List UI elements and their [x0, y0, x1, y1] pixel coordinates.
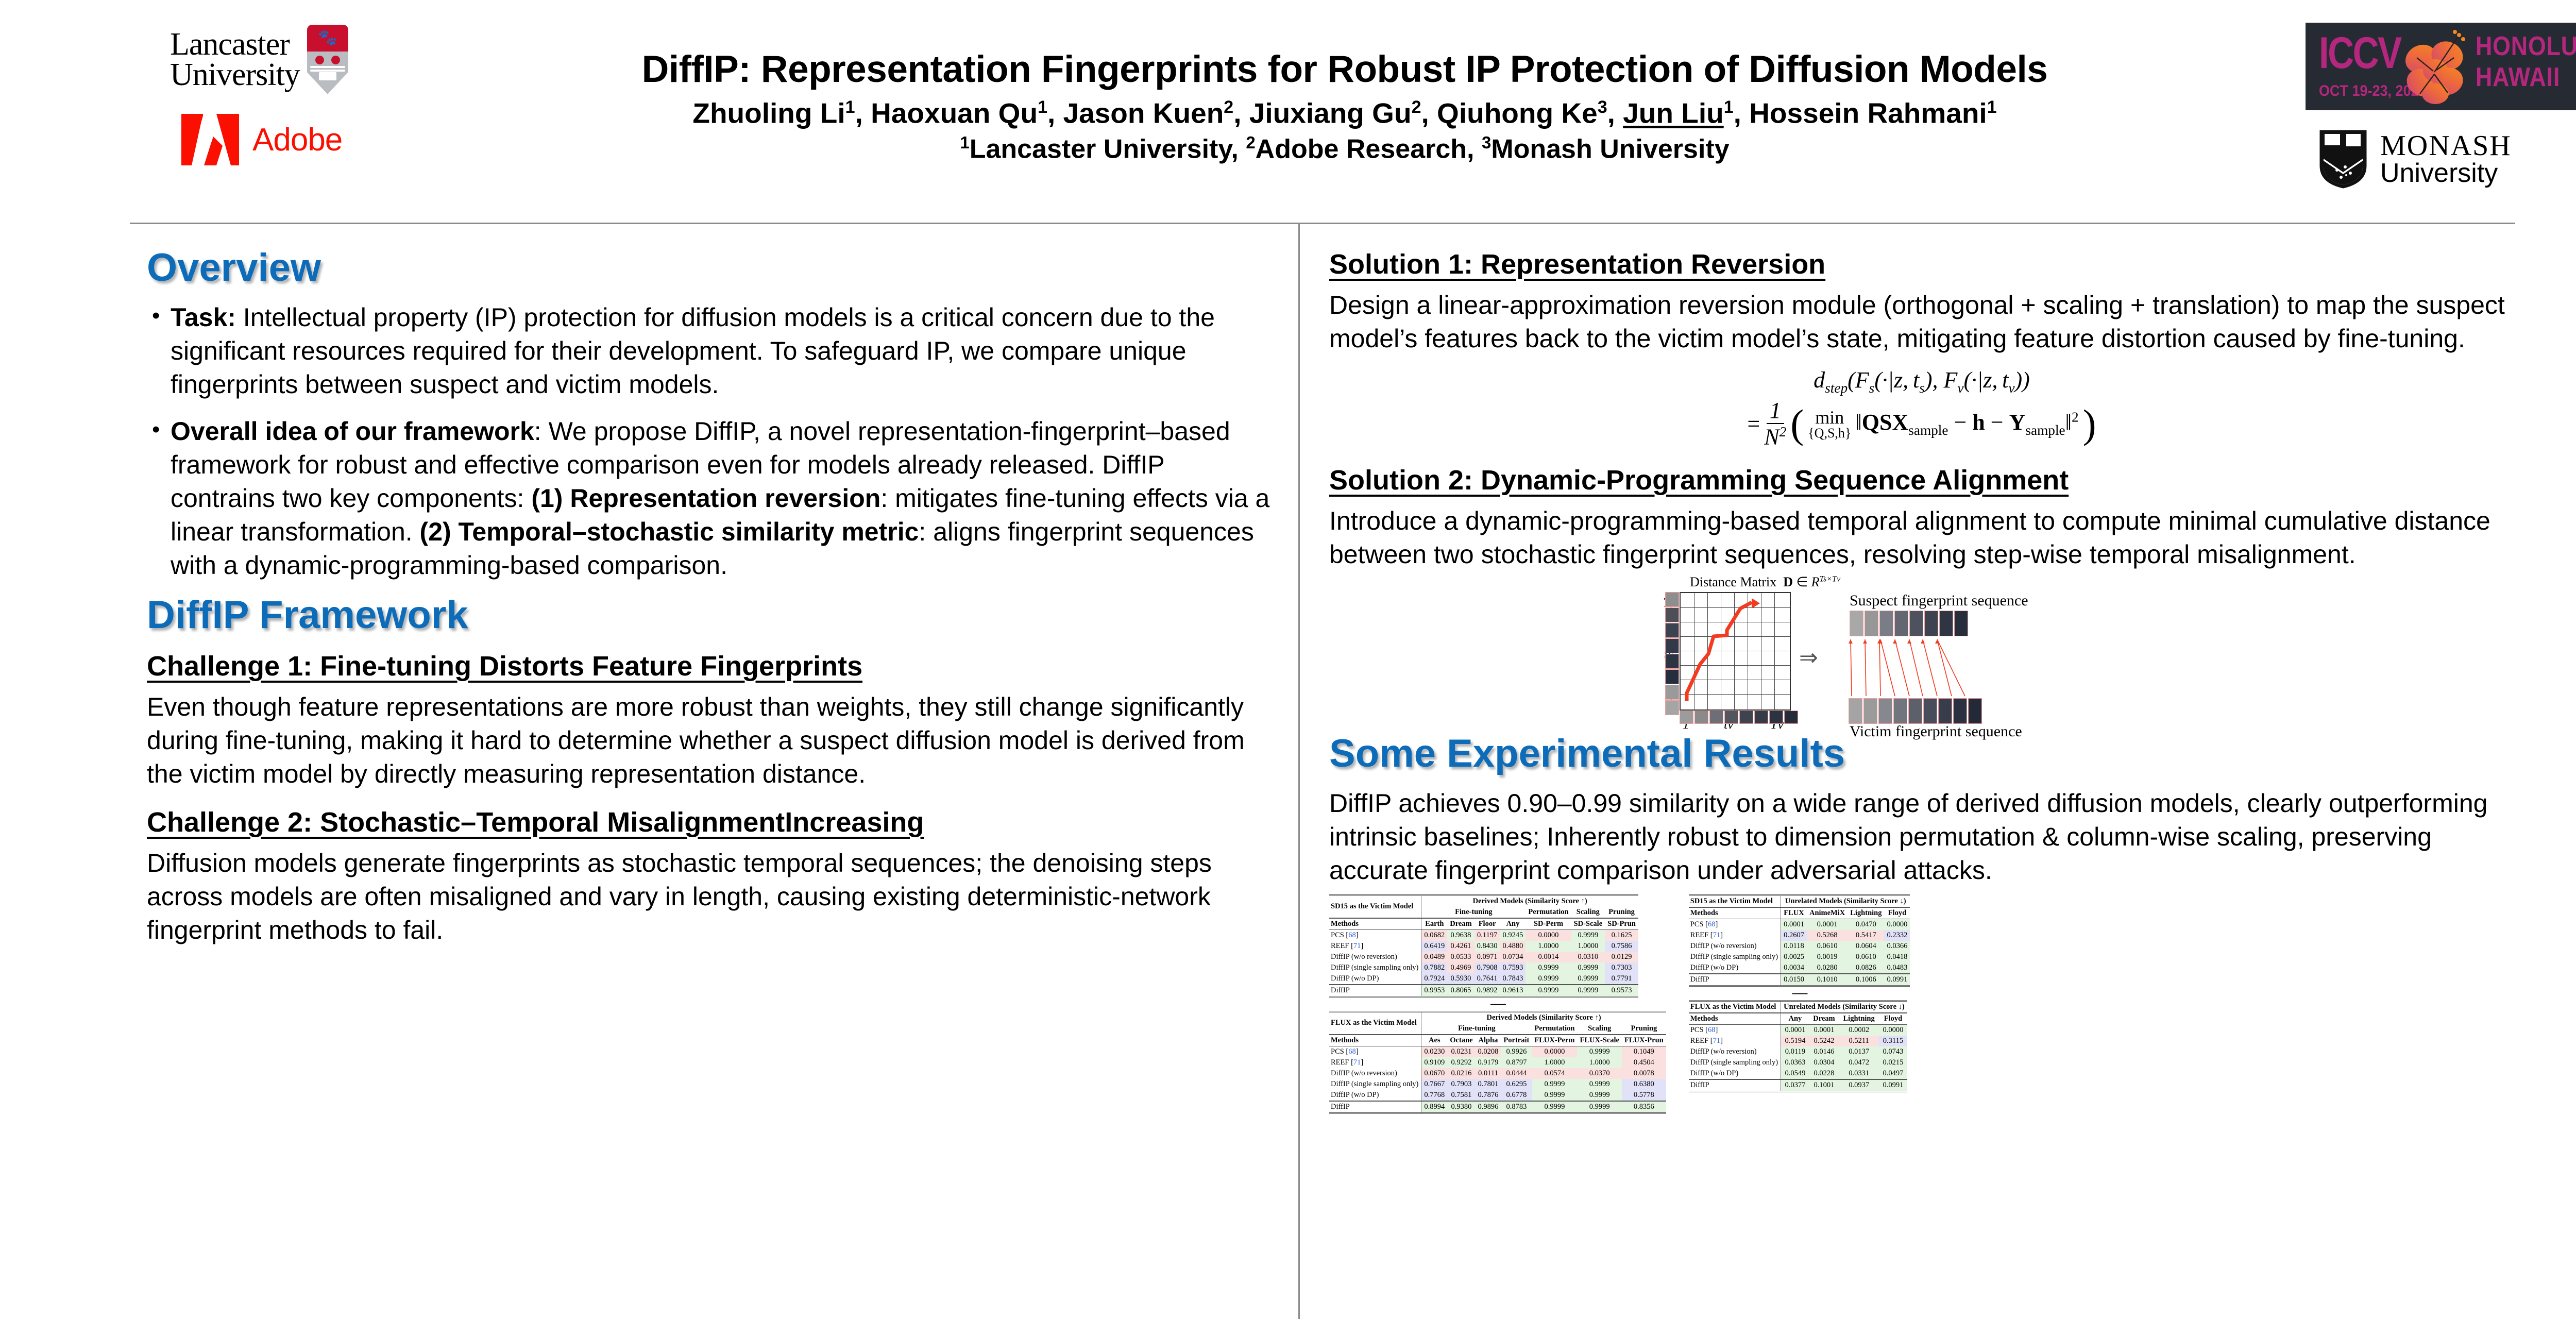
- table-cell: 0.5242: [1809, 1036, 1839, 1046]
- row-method-label: PCS [68]: [1689, 1024, 1781, 1036]
- table-cell: 0.9999: [1571, 985, 1605, 997]
- row-method-label: DiffIP (w/o DP): [1689, 962, 1781, 974]
- overview-bullet-list: Task: Intellectual property (IP) protect…: [147, 301, 1273, 582]
- table-corner-label: SD15 as the Victim Model: [1329, 895, 1421, 918]
- monash-line-2: University: [2380, 160, 2512, 187]
- right-column: Solution 1: Representation Reversion Des…: [1329, 248, 2514, 1115]
- solution-2-heading: Solution 2: Dynamic-Programming Sequence…: [1329, 464, 2514, 496]
- bullet-text: Intellectual property (IP) protection fo…: [171, 303, 1215, 399]
- table-cell: 0.1010: [1807, 974, 1848, 986]
- table-cell: 0.0118: [1781, 941, 1807, 952]
- table-cell: 0.8994: [1421, 1101, 1447, 1113]
- table-row: DiffIP (w/o reversion)0.01180.06100.0604…: [1689, 941, 1910, 952]
- adobe-a-icon: [181, 114, 239, 165]
- table-cell: 0.7876: [1476, 1090, 1501, 1101]
- row-method-label: PCS [68]: [1689, 919, 1781, 930]
- table-cell: 0.2607: [1781, 930, 1807, 941]
- table-cell: 0.9999: [1571, 929, 1605, 941]
- table-row: REEF [71]0.91090.92920.91790.87971.00001…: [1329, 1057, 1666, 1068]
- table-derived-flux: FLUX as the Victim Model Derived Models …: [1329, 1011, 1666, 1114]
- column-header: Lightning: [1839, 1013, 1879, 1025]
- column-header: FLUX-Scale: [1577, 1035, 1622, 1046]
- column-header: Alpha: [1476, 1035, 1501, 1046]
- column-header: Portrait: [1501, 1035, 1532, 1046]
- table-row: DiffIP0.99530.80650.98920.96130.99990.99…: [1329, 985, 1638, 997]
- bullet-lead: Overall idea of our framework: [171, 417, 534, 446]
- table-cell: 0.6419: [1421, 941, 1447, 952]
- table-row: DiffIP (w/o DP)0.77680.75810.78760.67780…: [1329, 1090, 1666, 1101]
- challenge-1-heading: Challenge 1: Fine-tuning Distorts Featur…: [147, 650, 1273, 682]
- table-row: PCS [68]0.00010.00010.00020.0000: [1689, 1024, 1907, 1036]
- table-cell: 0.1006: [1848, 974, 1884, 986]
- table-row: DiffIP (single sampling only)0.00250.001…: [1689, 952, 1910, 962]
- table-cell: 0.0444: [1501, 1068, 1532, 1079]
- table-cell: 0.1625: [1605, 929, 1638, 941]
- group-permutation: Permutation: [1526, 907, 1571, 918]
- column-header-methods: Methods: [1329, 1035, 1421, 1046]
- table-cell: 0.2332: [1884, 930, 1910, 941]
- iccv-city: HONOLULU: [2476, 31, 2576, 62]
- table-cell: 0.0001: [1781, 919, 1807, 930]
- table-row: DiffIP (w/o reversion)0.06700.02160.0111…: [1329, 1068, 1666, 1079]
- table-row: SD15 as the Victim Model Unrelated Model…: [1689, 895, 1910, 907]
- header-divider: [130, 223, 2515, 224]
- row-method-label: DiffIP (w/o reversion): [1329, 952, 1421, 962]
- table-cell: 0.7768: [1421, 1090, 1447, 1101]
- column-header: Lightning: [1848, 907, 1884, 919]
- table-separator: ——: [1329, 999, 1666, 1011]
- implies-arrow-icon: ⇒: [1799, 645, 1818, 671]
- table-cell: 0.8430: [1475, 941, 1500, 952]
- table-cell: 0.7667: [1421, 1079, 1447, 1090]
- table-cell: 0.0216: [1447, 1068, 1475, 1079]
- table-row: SD15 as the Victim Model Derived Models …: [1329, 895, 1638, 907]
- table-row: DiffIP (w/o reversion)0.01190.01460.0137…: [1689, 1046, 1907, 1057]
- table-cell: 0.4969: [1447, 962, 1474, 973]
- table-cell: 0.5930: [1447, 973, 1474, 985]
- table-cell: 0.7586: [1605, 941, 1638, 952]
- column-header: SD-Perm: [1526, 918, 1571, 930]
- table-cell: 0.0231: [1447, 1046, 1475, 1057]
- table-cell: 0.0670: [1421, 1068, 1447, 1079]
- table-cell: 0.0000: [1884, 919, 1910, 930]
- table-cell: 0.9179: [1476, 1057, 1501, 1068]
- row-method-label: DiffIP (w/o reversion): [1689, 941, 1781, 952]
- row-method-label: DiffIP (single sampling only): [1689, 952, 1781, 962]
- table-cell: 0.9999: [1532, 1101, 1577, 1113]
- table-cell: 0.9999: [1532, 1079, 1577, 1090]
- table-cell: 0.0991: [1879, 1079, 1907, 1092]
- table-row: REEF [71]0.64190.42610.84300.48801.00001…: [1329, 941, 1638, 952]
- formula-line-2: = 1N2 ( min{Q,S,h} ‖QSXsample − h − Ysam…: [1329, 399, 2514, 449]
- table-cell: 0.0280: [1807, 962, 1848, 974]
- table-row: PCS [68]0.00010.00010.04700.0000: [1689, 919, 1910, 930]
- table-row: FLUX as the Victim Model Unrelated Model…: [1689, 1001, 1907, 1013]
- monash-university-logo: MONASH University: [2318, 129, 2576, 190]
- table-cell: 0.0000: [1532, 1046, 1577, 1057]
- table-unrelated-sd15: SD15 as the Victim Model Unrelated Model…: [1689, 894, 1910, 987]
- table-row: FLUX as the Victim Model Derived Models …: [1329, 1011, 1666, 1023]
- table-header-row: Methods FLUX AnimeMiX Lightning Floyd: [1689, 907, 1910, 919]
- table-separator: ——: [1689, 988, 1910, 1000]
- table-cell: 0.9953: [1421, 985, 1447, 997]
- dp-warping-path: [1680, 592, 1789, 708]
- row-method-label: DiffIP (w/o reversion): [1689, 1046, 1781, 1057]
- table-cell: 0.8797: [1501, 1057, 1532, 1068]
- suspect-fingerprint-strip: [1850, 611, 1968, 636]
- solution-1-text: Design a linear-approximation reversion …: [1329, 289, 2514, 356]
- table-cell: 0.7882: [1421, 962, 1447, 973]
- table-cell: 0.9999: [1577, 1090, 1622, 1101]
- group-fine-tuning: Fine-tuning: [1421, 907, 1526, 918]
- row-method-label: DiffIP (w/o DP): [1329, 973, 1421, 985]
- unrelated-tables-column: SD15 as the Victim Model Unrelated Model…: [1689, 894, 1910, 1093]
- table-cell: 1.0000: [1571, 941, 1605, 952]
- column-header: AnimeMiX: [1807, 907, 1848, 919]
- list-item: Task: Intellectual property (IP) protect…: [171, 301, 1273, 401]
- table-cell: 0.5417: [1848, 930, 1884, 941]
- table-cell: 0.7581: [1447, 1090, 1475, 1101]
- challenge-2-heading: Challenge 2: Stochastic–Temporal Misalig…: [147, 806, 1273, 838]
- row-method-label: DiffIP (single sampling only): [1329, 962, 1421, 973]
- table-row: DiffIP (single sampling only)0.78820.496…: [1329, 962, 1638, 973]
- table-cell: 0.5268: [1807, 930, 1848, 941]
- table-cell: 0.0230: [1421, 1046, 1447, 1057]
- table-cell: 0.0472: [1839, 1057, 1879, 1068]
- row-method-label: REEF [71]: [1689, 930, 1781, 941]
- iccv-state: HAWAII: [2476, 62, 2576, 93]
- table-cell: 0.0119: [1781, 1046, 1809, 1057]
- table-cell: 0.9573: [1605, 985, 1638, 997]
- table-cell: 0.0574: [1532, 1068, 1577, 1079]
- table-corner-label: FLUX as the Victim Model: [1329, 1011, 1421, 1035]
- lancaster-shield-icon: 🐾: [307, 25, 348, 94]
- table-bottom-rule: [1329, 996, 1638, 997]
- table-bottom-rule: [1689, 1091, 1907, 1092]
- row-method-label: DiffIP: [1689, 1079, 1781, 1092]
- table-cell: 0.7843: [1500, 973, 1526, 985]
- table-cell: 0.0002: [1839, 1024, 1879, 1036]
- table-cell: 0.9999: [1526, 985, 1571, 997]
- solution-1-heading: Solution 1: Representation Reversion: [1329, 248, 2514, 280]
- table-cell: 0.0146: [1809, 1046, 1839, 1057]
- table-cell: 0.9999: [1577, 1046, 1622, 1057]
- challenge-2-text: Diffusion models generate fingerprints a…: [147, 847, 1273, 947]
- lancaster-university-logo: Lancaster University 🐾: [170, 25, 489, 94]
- right-logos: ICCV OCT 19-23, 2025: [2231, 23, 2576, 218]
- table-cell: 0.0111: [1476, 1068, 1501, 1079]
- table-cell: 0.9926: [1501, 1046, 1532, 1057]
- affiliation-list: 1Lancaster University, 2Adobe Research, …: [464, 133, 2226, 164]
- table-cell: 0.9999: [1532, 1090, 1577, 1101]
- row-method-label: DiffIP (single sampling only): [1329, 1079, 1421, 1090]
- table-cell: 0.0228: [1809, 1068, 1839, 1079]
- table-row: DiffIP (w/o reversion)0.04890.05330.0971…: [1329, 952, 1638, 962]
- column-header: Any: [1781, 1013, 1809, 1025]
- reversion-formula: dstep(Fs(·|z, ts), Fv(·|z, tv)) = 1N2 ( …: [1329, 367, 2514, 448]
- formula-line-1: dstep(Fs(·|z, ts), Fv(·|z, tv)): [1329, 367, 2514, 396]
- table-cell: 0.0533: [1447, 952, 1474, 962]
- row-method-label: DiffIP (w/o DP): [1329, 1090, 1421, 1101]
- table-group-title: Derived Models (Similarity Score ↑): [1421, 895, 1638, 907]
- table-cell: 0.0610: [1807, 941, 1848, 952]
- table-cell: 0.0019: [1807, 952, 1848, 962]
- table-cell: 0.0366: [1884, 941, 1910, 952]
- table-row: REEF [71]0.26070.52680.54170.2332: [1689, 930, 1910, 941]
- table-cell: 0.0129: [1605, 952, 1638, 962]
- table-cell: 0.0682: [1421, 929, 1447, 941]
- adobe-logo: Adobe: [181, 114, 489, 165]
- table-cell: 0.0377: [1781, 1079, 1809, 1092]
- table-cell: 0.0363: [1781, 1057, 1809, 1068]
- table-header-row: Methods Aes Octane Alpha Portrait FLUX-P…: [1329, 1035, 1666, 1046]
- table-cell: 0.7903: [1447, 1079, 1475, 1090]
- table-cell: 0.0734: [1500, 952, 1526, 962]
- table-cell: 0.1049: [1622, 1046, 1666, 1057]
- table-cell: 0.4504: [1622, 1057, 1666, 1068]
- table-row: DiffIP0.89940.93800.98960.87830.99990.99…: [1329, 1101, 1666, 1113]
- row-method-label: DiffIP: [1689, 974, 1781, 986]
- table-cell: 0.0000: [1526, 929, 1571, 941]
- column-header: Octane: [1447, 1035, 1475, 1046]
- table-cell: 0.7908: [1475, 962, 1500, 973]
- iccv-letters: ICCV: [2319, 31, 2401, 75]
- group-scaling: Scaling: [1571, 907, 1605, 918]
- hibiscus-flower-icon: [2398, 27, 2476, 107]
- alignment-links: [1844, 636, 2020, 703]
- framework-heading: DiffIP Framework: [147, 596, 1273, 635]
- row-method-label: REEF [71]: [1329, 1057, 1421, 1068]
- column-header-methods: Methods: [1689, 907, 1781, 919]
- table-row: DiffIP (single sampling only)0.03630.030…: [1689, 1057, 1907, 1068]
- table-cell: 0.0304: [1809, 1057, 1839, 1068]
- table-cell: 0.0418: [1884, 952, 1910, 962]
- table-cell: 0.9380: [1447, 1101, 1475, 1113]
- table-cell: 0.0604: [1848, 941, 1884, 952]
- left-column: Overview Task: Intellectual property (IP…: [147, 248, 1273, 958]
- table-cell: 0.7641: [1475, 973, 1500, 985]
- table-row: DiffIP (w/o DP)0.79240.59300.76410.78430…: [1329, 973, 1638, 985]
- table-row: DiffIP (single sampling only)0.76670.790…: [1329, 1079, 1666, 1090]
- column-header: FLUX-Prun: [1622, 1035, 1666, 1046]
- table-cell: 0.0150: [1781, 974, 1807, 986]
- bullet-lead: Task:: [171, 303, 236, 332]
- table-cell: 0.7801: [1476, 1079, 1501, 1090]
- table-cell: 1.0000: [1577, 1057, 1622, 1068]
- table-cell: 0.0208: [1476, 1046, 1501, 1057]
- table-cell: 0.5778: [1622, 1090, 1666, 1101]
- column-header: Any: [1500, 918, 1526, 930]
- matrix-row-thumbnails: [1665, 592, 1679, 715]
- lancaster-line-2: University: [170, 60, 300, 90]
- left-logos: Lancaster University 🐾: [170, 25, 489, 210]
- group-permutation: Permutation: [1532, 1023, 1577, 1035]
- suspect-sequence-label: Suspect fingerprint sequence: [1850, 592, 2028, 610]
- table-cell: 0.9892: [1475, 985, 1500, 997]
- table-row: PCS [68]0.02300.02310.02080.99260.00000.…: [1329, 1046, 1666, 1057]
- column-header-methods: Methods: [1689, 1013, 1781, 1025]
- table-bottom-rule: [1329, 1113, 1666, 1114]
- table-cell: 0.8356: [1622, 1101, 1666, 1113]
- author-list: Zhuoling Li1, Haoxuan Qu1, Jason Kuen2, …: [464, 97, 2226, 129]
- poster-title: DiffIP: Representation Fingerprints for …: [464, 49, 2226, 90]
- iccv-conference-logo: ICCV OCT 19-23, 2025: [2306, 23, 2576, 110]
- title-block: DiffIP: Representation Fingerprints for …: [464, 49, 2226, 164]
- table-cell: 0.0001: [1807, 919, 1848, 930]
- table-cell: 0.0001: [1809, 1024, 1839, 1036]
- table-cell: 0.9292: [1447, 1057, 1475, 1068]
- table-cell: 0.0743: [1879, 1046, 1907, 1057]
- column-header: Earth: [1421, 918, 1447, 930]
- column-header: FLUX: [1781, 907, 1807, 919]
- table-cell: 0.0310: [1571, 952, 1605, 962]
- table-cell: 0.9896: [1476, 1101, 1501, 1113]
- table-cell: 0.7303: [1605, 962, 1638, 973]
- table-cell: 0.0001: [1781, 1024, 1809, 1036]
- row-method-label: REEF [71]: [1329, 941, 1421, 952]
- distance-matrix-caption: Distance Matrix D ∈ RTs×Tv: [1690, 574, 1840, 590]
- table-cell: 0.9999: [1526, 962, 1571, 973]
- row-method-label: DiffIP: [1329, 1101, 1421, 1113]
- table-cell: 0.0826: [1848, 962, 1884, 974]
- table-derived-sd15: SD15 as the Victim Model Derived Models …: [1329, 894, 1638, 997]
- table-cell: 0.6295: [1501, 1079, 1532, 1090]
- column-header: Aes: [1421, 1035, 1447, 1046]
- list-item: Overall idea of our framework: We propos…: [171, 415, 1273, 582]
- column-header: SD-Scale: [1571, 918, 1605, 930]
- column-header-methods: Methods: [1329, 918, 1421, 930]
- table-cell: 0.4880: [1500, 941, 1526, 952]
- results-tables: SD15 as the Victim Model Derived Models …: [1329, 894, 2524, 1115]
- table-cell: 0.0000: [1879, 1024, 1907, 1036]
- table-cell: 0.0937: [1839, 1079, 1879, 1092]
- overview-heading: Overview: [147, 248, 1273, 288]
- table-row: DiffIP (w/o DP)0.05490.02280.03310.0497: [1689, 1068, 1907, 1079]
- adobe-wordmark: Adobe: [252, 122, 342, 158]
- table-cell: 0.0489: [1421, 952, 1447, 962]
- table-cell: 0.9999: [1571, 973, 1605, 985]
- column-header: Floor: [1475, 918, 1500, 930]
- table-cell: 0.9999: [1571, 962, 1605, 973]
- table-cell: 1.0000: [1532, 1057, 1577, 1068]
- table-cell: 0.4261: [1447, 941, 1474, 952]
- table-cell: 0.9638: [1447, 929, 1474, 941]
- dp-alignment-diagram: Distance Matrix D ∈ RTs×Tv Ts ts 1 1 tv …: [1329, 574, 2514, 729]
- table-cell: 0.0370: [1577, 1068, 1622, 1079]
- table-cell: 0.9999: [1577, 1101, 1622, 1113]
- table-cell: 0.0549: [1781, 1068, 1809, 1079]
- row-method-label: PCS [68]: [1329, 929, 1421, 941]
- table-row: DiffIP0.01500.10100.10060.0991: [1689, 974, 1910, 986]
- table-cell: 0.8783: [1501, 1101, 1532, 1113]
- table-cell: 0.0025: [1781, 952, 1807, 962]
- table-cell: 0.0610: [1848, 952, 1884, 962]
- group-scaling: Scaling: [1577, 1023, 1622, 1035]
- table-cell: 0.9999: [1526, 973, 1571, 985]
- monash-shield-icon: [2318, 129, 2368, 190]
- victim-sequence-label: Victim fingerprint sequence: [1850, 723, 2022, 740]
- table-group-title: Derived Models (Similarity Score ↑): [1421, 1011, 1666, 1023]
- table-row: DiffIP0.03770.10010.09370.0991: [1689, 1079, 1907, 1092]
- table-cell: 0.0470: [1848, 919, 1884, 930]
- table-header-row: Methods Any Dream Lightning Floyd: [1689, 1013, 1907, 1025]
- table-cell: 0.7791: [1605, 973, 1638, 985]
- table-corner-label: SD15 as the Victim Model: [1689, 895, 1781, 907]
- table-cell: 0.9999: [1577, 1079, 1622, 1090]
- table-cell: 0.5211: [1839, 1036, 1879, 1046]
- column-header: Dream: [1809, 1013, 1839, 1025]
- table-cell: 0.9613: [1500, 985, 1526, 997]
- table-cell: 0.0331: [1839, 1068, 1879, 1079]
- table-cell: 0.0483: [1884, 962, 1910, 974]
- row-method-label: DiffIP (w/o DP): [1689, 1068, 1781, 1079]
- table-row: REEF [71]0.51940.52420.52110.3115: [1689, 1036, 1907, 1046]
- group-pruning: Pruning: [1605, 907, 1638, 918]
- table-cell: 0.1001: [1809, 1079, 1839, 1092]
- iccv-location: HONOLULU HAWAII: [2476, 31, 2576, 93]
- table-cell: 0.8065: [1447, 985, 1474, 997]
- column-header: SD-Prun: [1605, 918, 1638, 930]
- table-cell: 0.0137: [1839, 1046, 1879, 1057]
- table-cell: 0.0215: [1879, 1057, 1907, 1068]
- table-corner-label: FLUX as the Victim Model: [1689, 1001, 1781, 1013]
- row-method-label: DiffIP (single sampling only): [1689, 1057, 1781, 1068]
- table-row: PCS [68]0.06820.96380.11970.92450.00000.…: [1329, 929, 1638, 941]
- monash-wordmark: MONASH University: [2380, 132, 2512, 187]
- table-cell: 0.0971: [1475, 952, 1500, 962]
- group-fine-tuning: Fine-tuning: [1421, 1023, 1532, 1035]
- table-cell: 0.0078: [1622, 1068, 1666, 1079]
- table-cell: 0.6380: [1622, 1079, 1666, 1090]
- row-method-label: DiffIP: [1329, 985, 1421, 997]
- row-method-label: REEF [71]: [1689, 1036, 1781, 1046]
- table-header-row: Methods Earth Dream Floor Any SD-Perm SD…: [1329, 918, 1638, 930]
- table-cell: 0.6778: [1501, 1090, 1532, 1101]
- challenge-1-text: Even though feature representations are …: [147, 690, 1273, 791]
- column-header: Floyd: [1879, 1013, 1907, 1025]
- lancaster-wordmark: Lancaster University: [170, 29, 300, 90]
- monash-line-1: MONASH: [2380, 132, 2512, 160]
- column-header: Floyd: [1884, 907, 1910, 919]
- group-pruning: Pruning: [1622, 1023, 1666, 1035]
- table-bottom-rule: [1689, 986, 1910, 987]
- table-cell: 0.7924: [1421, 973, 1447, 985]
- victim-fingerprint-strip: [1849, 698, 1982, 724]
- column-header: FLUX-Perm: [1532, 1035, 1577, 1046]
- matrix-column-thumbnails: [1680, 711, 1798, 724]
- table-cell: 1.0000: [1526, 941, 1571, 952]
- table-unrelated-flux: FLUX as the Victim Model Unrelated Model…: [1689, 1000, 1907, 1092]
- poster-header: Lancaster University 🐾: [0, 0, 2576, 223]
- table-group-title: Unrelated Models (Similarity Score ↓): [1781, 1001, 1907, 1013]
- row-method-label: PCS [68]: [1329, 1046, 1421, 1057]
- table-cell: 0.3115: [1879, 1036, 1907, 1046]
- solution-2-text: Introduce a dynamic-programming-based te…: [1329, 504, 2514, 571]
- table-cell: 0.0034: [1781, 962, 1807, 974]
- table-cell: 0.0014: [1526, 952, 1571, 962]
- column-header: Dream: [1447, 918, 1474, 930]
- table-cell: 0.7593: [1500, 962, 1526, 973]
- table-cell: 0.1197: [1475, 929, 1500, 941]
- row-method-label: DiffIP (w/o reversion): [1329, 1068, 1421, 1079]
- table-cell: 0.9245: [1500, 929, 1526, 941]
- derived-tables-column: SD15 as the Victim Model Derived Models …: [1329, 894, 1666, 1115]
- table-group-title: Unrelated Models (Similarity Score ↓): [1781, 895, 1910, 907]
- column-divider: [1298, 223, 1300, 1319]
- table-cell: 0.5194: [1781, 1036, 1809, 1046]
- table-row: DiffIP (w/o DP)0.00340.02800.08260.0483: [1689, 962, 1910, 974]
- table-cell: 0.0991: [1884, 974, 1910, 986]
